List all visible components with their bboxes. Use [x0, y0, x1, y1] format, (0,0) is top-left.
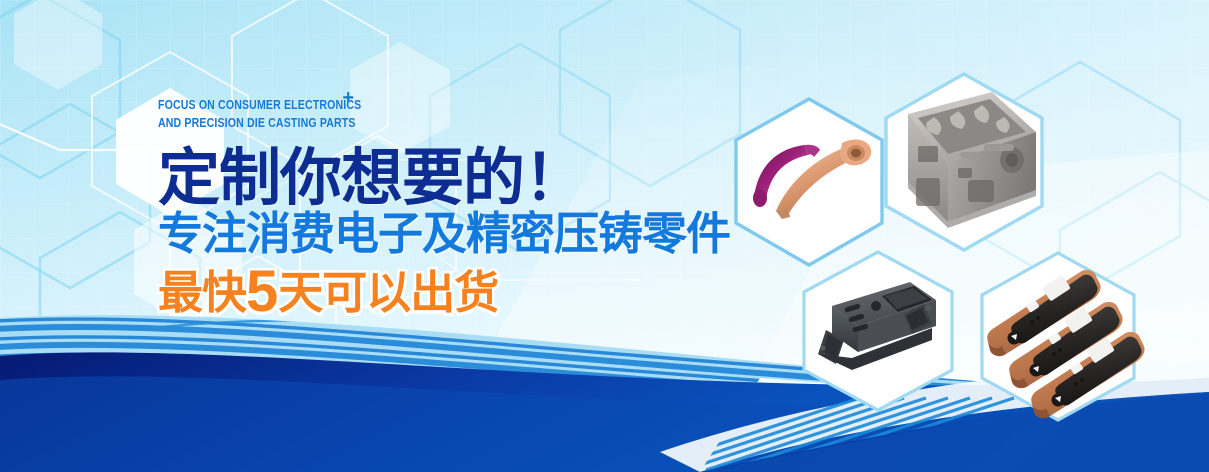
promo-banner: FOCUS ON CONSUMER ELECTRONICS AND PRECIS… — [0, 0, 1209, 472]
headline-line-3: 最快5天可以出货 — [158, 266, 798, 319]
hex-engine-block — [872, 70, 1057, 270]
eyebrow-text: FOCUS ON CONSUMER ELECTRONICS AND PRECIS… — [158, 96, 670, 132]
headline-line-1-text: 定制你想要的！ — [158, 141, 585, 214]
delivery-prefix: 最快 — [158, 266, 246, 319]
plus-icon: + — [342, 89, 354, 107]
headline-line-2: 专注消费电子及精密压铸零件 — [158, 209, 798, 259]
eyebrow-line-2: AND PRECISION DIE CASTING PARTS — [158, 114, 670, 132]
hex-phone-frames — [958, 250, 1158, 430]
headline-block: FOCUS ON CONSUMER ELECTRONICS AND PRECIS… — [158, 96, 798, 319]
headline-line-1: 定制你想要的！ — [158, 145, 798, 211]
delivery-suffix: 天可以出货 — [278, 266, 498, 319]
hex-housing — [792, 248, 964, 416]
eyebrow-line-1: FOCUS ON CONSUMER ELECTRONICS — [158, 97, 361, 112]
delivery-days-number: 5 — [246, 259, 278, 324]
